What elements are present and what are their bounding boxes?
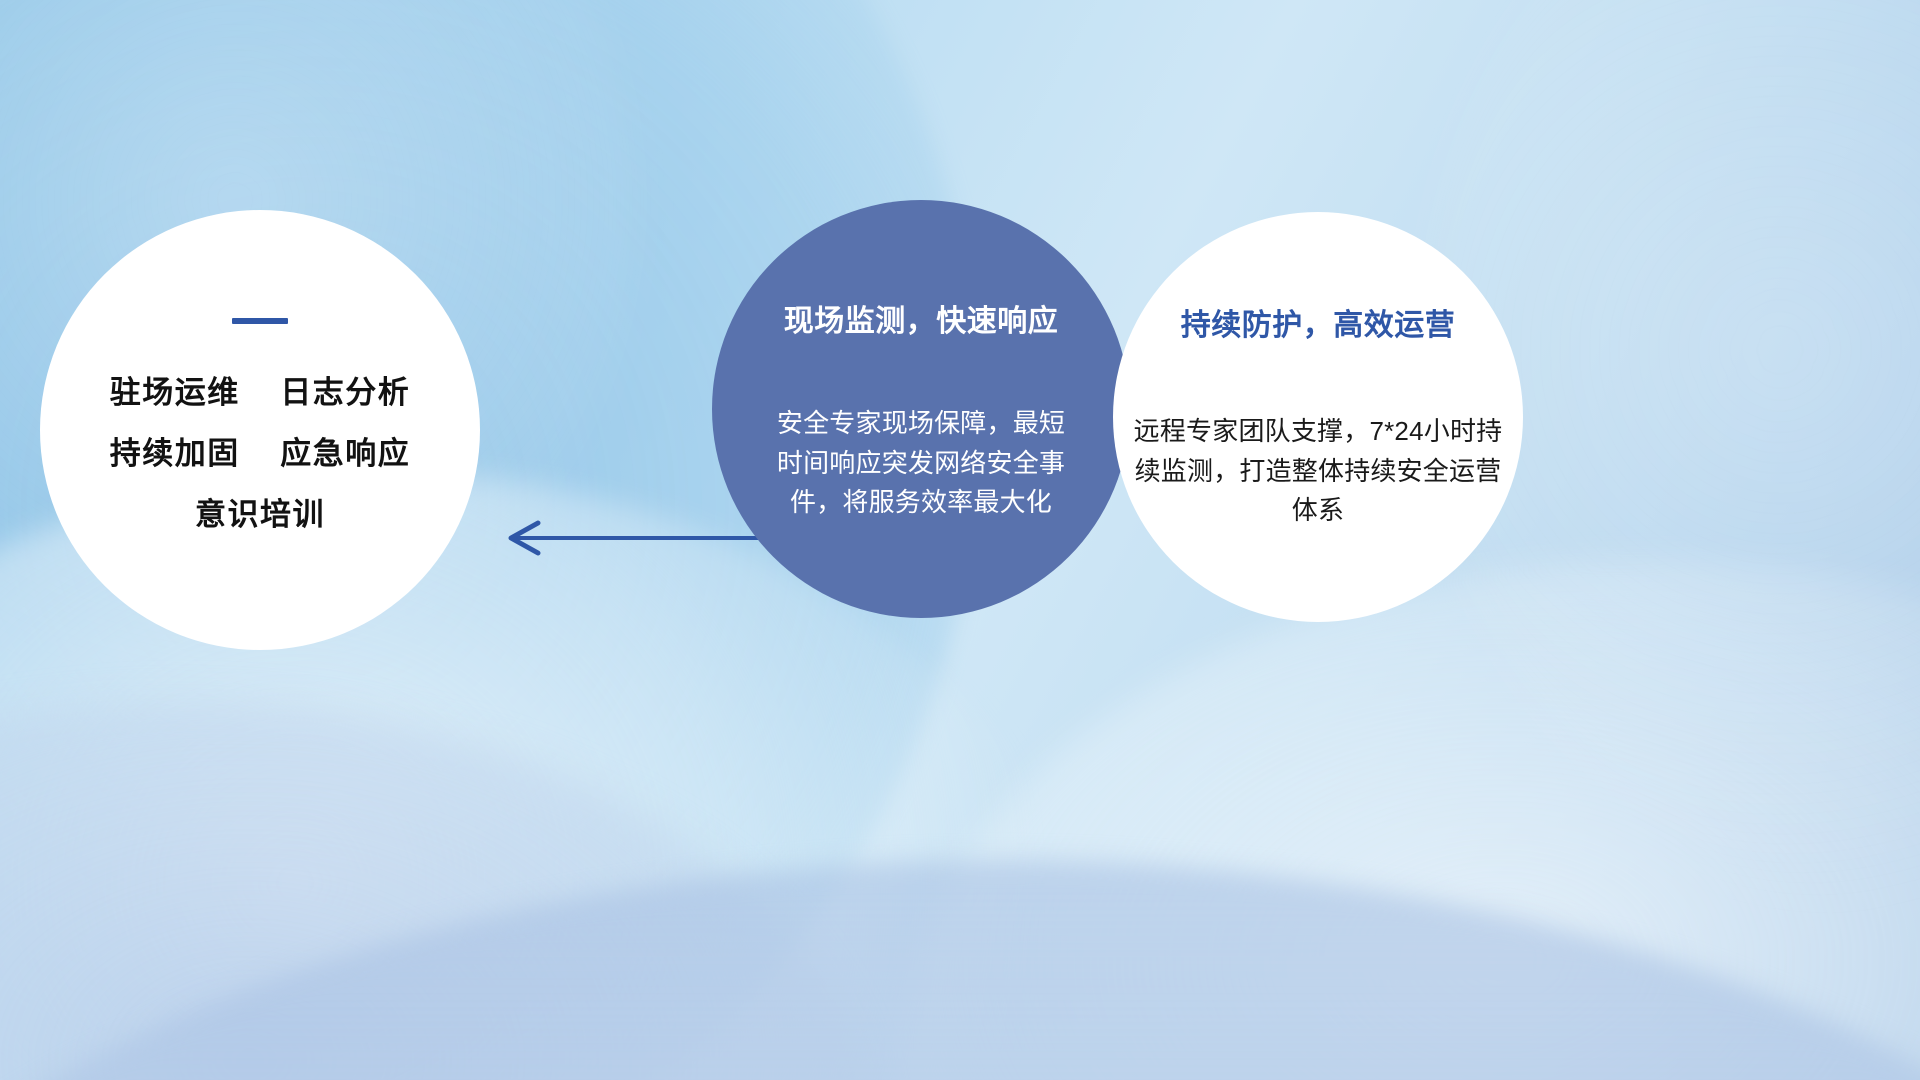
divider-dash bbox=[232, 318, 288, 324]
node-onsite-monitoring-content: 现场监测，快速响应 安全专家现场保障，最短时间响应突发网络安全事件，将服务效率最… bbox=[712, 200, 1130, 618]
node-continuous-protection-content: 持续防护，高效运营 远程专家团队支撑，7*24小时持续监测，打造整体持续安全运营… bbox=[1113, 212, 1523, 622]
node-continuous-protection-body: 远程专家团队支撑，7*24小时持续监测，打造整体持续安全运营体系 bbox=[1132, 412, 1504, 531]
slide-canvas: 驻场运维 日志分析 持续加固 应急响应 意识培训 现场监测，快速响应 安全专家现… bbox=[0, 0, 1920, 1080]
service-line-2: 持续加固 应急响应 bbox=[110, 438, 410, 469]
node-onsite-monitoring-heading: 现场监测，快速响应 bbox=[784, 296, 1059, 340]
service-line-3: 意识培训 bbox=[195, 499, 325, 530]
node-services-circle[interactable]: 驻场运维 日志分析 持续加固 应急响应 意识培训 bbox=[40, 210, 480, 650]
node-continuous-protection-circle[interactable]: 持续防护，高效运营 远程专家团队支撑，7*24小时持续监测，打造整体持续安全运营… bbox=[1113, 212, 1523, 622]
service-line-1: 驻场运维 日志分析 bbox=[110, 377, 410, 408]
node-onsite-monitoring-circle[interactable]: 现场监测，快速响应 安全专家现场保障，最短时间响应突发网络安全事件，将服务效率最… bbox=[712, 200, 1130, 618]
node-services-content: 驻场运维 日志分析 持续加固 应急响应 意识培训 bbox=[40, 210, 480, 650]
node-onsite-monitoring-body: 安全专家现场保障，最短时间响应突发网络安全事件，将服务效率最大化 bbox=[776, 404, 1066, 523]
node-continuous-protection-heading: 持续防护，高效运营 bbox=[1181, 300, 1456, 344]
